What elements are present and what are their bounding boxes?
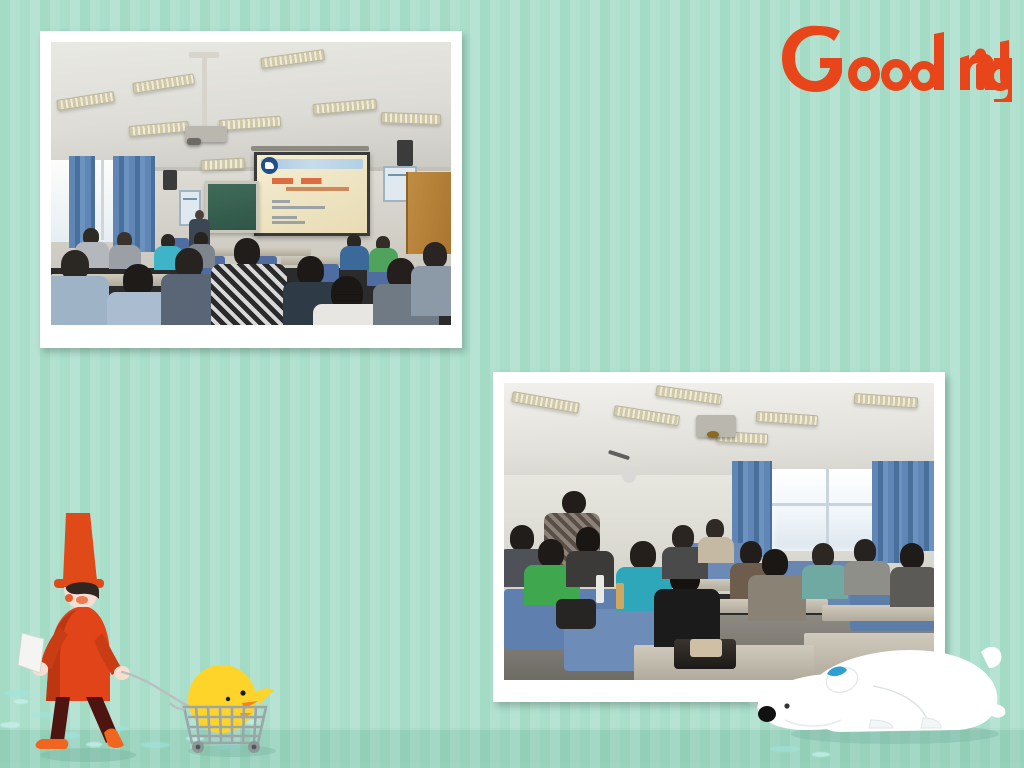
audience-torso [566, 551, 614, 587]
window-mullion [826, 469, 829, 551]
audience-head [900, 543, 924, 569]
audience-head [672, 525, 694, 549]
projector-mount [189, 52, 219, 58]
paper [18, 633, 44, 673]
audience-torso [340, 246, 369, 270]
slide-logo-icon [261, 157, 278, 174]
audience-head [812, 543, 834, 567]
audience-head [576, 527, 600, 553]
slide-body-text [272, 206, 325, 209]
cart-handle [170, 703, 184, 709]
slide-body-text [272, 216, 296, 219]
audience-head [762, 549, 788, 577]
audience-head [423, 242, 447, 268]
hat-crown [63, 513, 97, 581]
photo-lecture-hall[interactable] [40, 31, 462, 348]
page-title [776, 16, 1012, 102]
yellow-bird-in-cart [170, 655, 295, 760]
wall-speaker [397, 140, 413, 166]
slide-subtitle-text [286, 187, 350, 191]
slide-canvas [0, 0, 1024, 768]
polar-bear [745, 608, 1015, 748]
man-with-tall-hat [18, 505, 168, 763]
audience-head [297, 256, 324, 285]
water-bottle [616, 583, 624, 609]
audience-head [234, 238, 260, 266]
projector-pole [202, 56, 207, 128]
bird-eye [226, 697, 230, 701]
bird-eye [240, 690, 245, 695]
bear-nose [758, 706, 776, 722]
projector-lens [707, 431, 719, 438]
bear-eye [784, 703, 789, 708]
audience-torso [51, 276, 109, 325]
slide-body-text [272, 200, 290, 203]
audience-torso [698, 537, 734, 563]
audience-head [706, 519, 724, 539]
bear-rump-fur [981, 647, 1001, 668]
security-camera [622, 467, 636, 483]
audience-head [510, 525, 534, 551]
slide-body-text [272, 221, 305, 224]
audience-head [854, 539, 876, 563]
audience-head [740, 541, 762, 565]
shoe-front [104, 729, 124, 749]
nose [65, 594, 73, 602]
slide-title-text [272, 178, 351, 184]
leg-back [50, 697, 70, 741]
shoe-back [36, 739, 69, 749]
audience-torso [844, 561, 890, 595]
audience-torso [802, 565, 848, 599]
eyeglasses [334, 294, 362, 301]
water-bottle [596, 575, 604, 603]
cheek [76, 596, 88, 604]
projector-lens [187, 138, 201, 145]
audience-torso [411, 266, 451, 316]
hand-right [114, 666, 130, 680]
audience-head [538, 539, 564, 567]
screen-top-rail [251, 146, 369, 151]
door [406, 172, 451, 254]
standing-man-head [562, 491, 586, 515]
handbag-flap [690, 639, 722, 657]
chalkboard [205, 181, 259, 233]
window-curtain [902, 461, 934, 551]
projection-screen [254, 152, 370, 236]
audience-torso [890, 567, 934, 607]
audience-torso [211, 264, 287, 325]
wall-speaker [163, 170, 177, 190]
ceiling [51, 42, 451, 175]
ceiling-lamp [201, 158, 246, 171]
backpack [556, 599, 596, 629]
photo-lecture-hall-image [51, 42, 451, 325]
audience-head [630, 541, 656, 569]
ceiling-lamp [381, 112, 441, 125]
window-mullion [101, 160, 104, 240]
